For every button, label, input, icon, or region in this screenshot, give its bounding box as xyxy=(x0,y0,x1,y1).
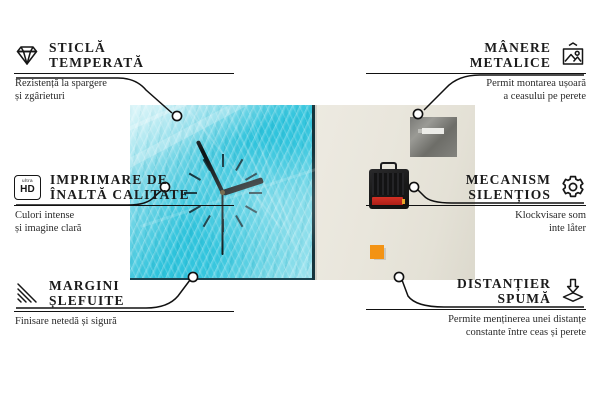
feature-title-line1: MÂNERE xyxy=(470,40,551,55)
feature-desc-line1: Permite menținerea unei distanțe xyxy=(366,314,586,327)
feature-polished-edges: MARGINI ȘLEFUITE Finisare netedă și sigu… xyxy=(14,278,234,329)
divider xyxy=(366,73,586,74)
feature-title-line1: MECANISM xyxy=(466,172,551,187)
metal-hanger-part xyxy=(410,117,457,157)
feature-title-line1: STICLĂ xyxy=(49,40,144,55)
feature-silent-mechanism: MECANISM SILENȚIOS Klockvisare som inte … xyxy=(366,172,586,235)
feature-desc-line1: Klockvisare som xyxy=(366,210,586,223)
feature-tempered-glass: STICLĂ TEMPERATĂ Rezistență la spargere … xyxy=(14,40,234,103)
gear-icon xyxy=(560,174,586,200)
ultra-hd-icon-hd-label: HD xyxy=(20,185,35,195)
feature-title-line2: ÎNALTĂ CALITATE xyxy=(50,187,190,202)
feature-desc-line1: Permit montarea ușoară xyxy=(366,78,586,91)
diamond-icon xyxy=(14,42,40,68)
divider xyxy=(366,309,586,310)
divider xyxy=(14,73,234,74)
feature-metal-hangers: MÂNERE METALICE Permit montarea ușoară a… xyxy=(366,40,586,103)
feature-desc-line1: Rezistență la spargere xyxy=(14,78,234,91)
feature-desc-line1: Finisare netedă și sigură xyxy=(14,316,234,329)
ultra-hd-icon: ultra HD xyxy=(14,175,41,200)
feature-title-line2: ȘLEFUITE xyxy=(49,293,125,308)
feature-high-quality-print: ultra HD IMPRIMARE DE ÎNALTĂ CALITATE Cu… xyxy=(14,172,234,235)
picture-hanger-icon xyxy=(560,42,586,68)
divider xyxy=(14,205,234,206)
feature-title-line1: DISTANȚIER xyxy=(457,276,551,291)
divider xyxy=(14,311,234,312)
feature-title-line2: METALICE xyxy=(470,55,551,70)
arrow-down-layer-icon xyxy=(560,278,586,304)
feature-desc-line2: a ceasului pe perete xyxy=(366,91,586,104)
polished-edge-icon xyxy=(14,280,40,306)
divider xyxy=(366,205,586,206)
feature-foam-spacer: DISTANȚIER SPUMĂ Permite menținerea unei… xyxy=(366,276,586,339)
feature-title-line1: IMPRIMARE DE xyxy=(50,172,190,187)
infographic-canvas: STICLĂ TEMPERATĂ Rezistență la spargere … xyxy=(0,0,600,400)
feature-desc-line2: și zgârieturi xyxy=(14,91,234,104)
foam-spacer-part xyxy=(370,245,384,259)
feature-desc-line1: Culori intense xyxy=(14,210,234,223)
feature-title-line2: TEMPERATĂ xyxy=(49,55,144,70)
feature-desc-line2: și imagine clară xyxy=(14,223,234,236)
feature-title-line2: SPUMĂ xyxy=(457,291,551,306)
feature-desc-line2: inte låter xyxy=(366,223,586,236)
feature-title-line1: MARGINI xyxy=(49,278,125,293)
feature-desc-line2: constante între ceas și perete xyxy=(366,327,586,340)
feature-title-line2: SILENȚIOS xyxy=(466,187,551,202)
